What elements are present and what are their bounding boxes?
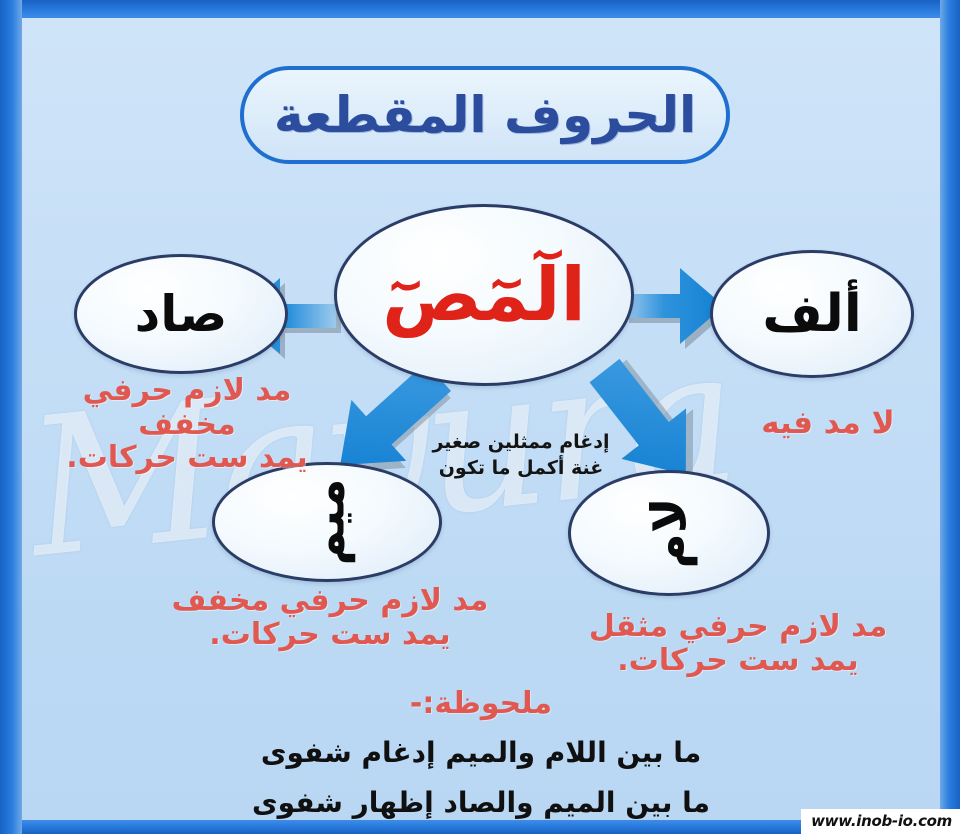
poster-root: Mayura الحروف المقطعة [0,0,960,834]
frame-border-left [0,0,22,834]
sad-node[interactable]: صاد [74,254,288,374]
almas-node-label: الٓمٓصٓ [382,258,586,332]
idgham-rule-text: إدغام ممثلين صغير غنة أكمل ما تكون [408,430,634,481]
page-title: الحروف المقطعة [274,90,696,140]
alif-node-label: ألف [762,288,861,340]
meem-annotation: مد لازم حرفي مخفف يمد ست حركات. [170,584,490,651]
sad-node-label: صاد [135,289,228,339]
meem-node-label: ميم [303,479,351,566]
note-heading: ملحوظة:- [22,686,940,721]
almas-node[interactable]: الٓمٓصٓ [334,204,634,386]
sad-annotation: مد لازم حرفي مخفف يمد ست حركات. [32,374,342,475]
note-line: ما بين اللام والميم إدغام شفوى [22,736,940,769]
poster-canvas: Mayura الحروف المقطعة [22,18,940,820]
lam-node[interactable]: لام [568,470,770,596]
frame-border-top [0,0,960,18]
lam-node-label: لام [645,498,693,569]
lam-annotation: مد لازم حرفي مثقل يمد ست حركات. [578,610,898,677]
page-title-pill: الحروف المقطعة [240,66,730,164]
source-url-badge: www.inob-io.com [801,809,960,834]
alif-node[interactable]: ألف [710,250,914,378]
alif-annotation: لا مد فيه [728,406,928,441]
frame-border-right [940,0,960,834]
